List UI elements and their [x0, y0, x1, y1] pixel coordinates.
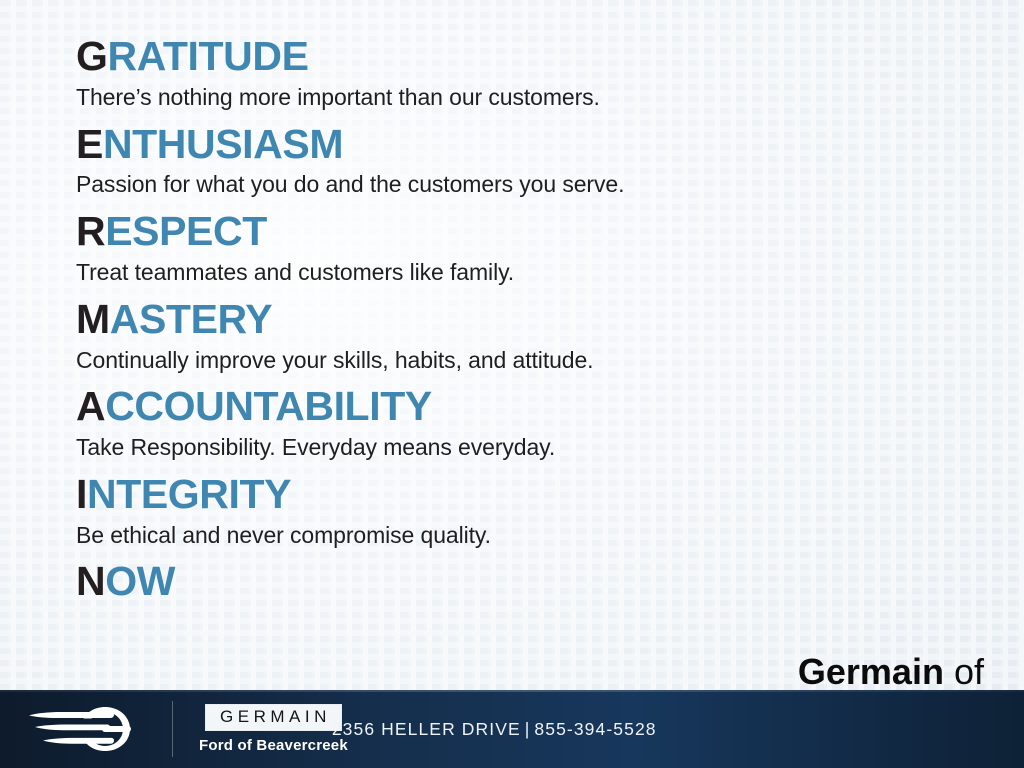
value-title-gratitude: GRATITUDE — [76, 36, 994, 78]
value-desc-enthusiasm: Passion for what you do and the customer… — [76, 170, 994, 199]
footer-brand-name: GERMAIN — [205, 704, 342, 731]
value-title-enthusiasm: ENTHUSIASM — [76, 124, 994, 166]
footer-brand-subtitle: Ford of Beavercreek — [199, 737, 348, 754]
value-lead-letter: I — [76, 471, 87, 517]
footer-contact-info: 2356 HELLER DRIVE|855-394-5528 — [332, 719, 657, 740]
value-rest-letters: RATITUDE — [108, 33, 309, 79]
value-lead-letter: E — [76, 121, 103, 167]
footer-logo — [0, 690, 172, 768]
value-desc-integrity: Be ethical and never compromise quality. — [76, 521, 994, 550]
value-desc-respect: Treat teammates and customers like famil… — [76, 258, 994, 287]
core-values-list: GRATITUDE There’s nothing more important… — [76, 36, 994, 615]
value-block-gratitude: GRATITUDE There’s nothing more important… — [76, 36, 994, 112]
value-rest-letters: ASTERY — [110, 296, 272, 342]
germain-winged-g-icon — [27, 703, 145, 755]
value-desc-mastery: Continually improve your skills, habits,… — [76, 346, 994, 375]
brand-lockup-bold: Germain — [798, 651, 944, 692]
value-lead-letter: R — [76, 208, 105, 254]
brand-lockup: Germain of — [798, 652, 984, 692]
value-block-respect: RESPECT Treat teammates and customers li… — [76, 211, 994, 287]
value-block-mastery: MASTERY Continually improve your skills,… — [76, 299, 994, 375]
value-rest-letters: ESPECT — [105, 208, 267, 254]
footer-bar: GERMAIN Ford of Beavercreek 2356 HELLER … — [0, 690, 1024, 768]
footer-address: 2356 HELLER DRIVE — [332, 719, 521, 739]
value-desc-accountability: Take Responsibility. Everyday means ever… — [76, 433, 994, 462]
value-desc-gratitude: There’s nothing more important than our … — [76, 83, 994, 112]
value-block-integrity: INTEGRITY Be ethical and never compromis… — [76, 474, 994, 550]
value-rest-letters: NTEGRITY — [87, 471, 291, 517]
value-title-mastery: MASTERY — [76, 299, 994, 341]
footer-separator: | — [521, 719, 535, 739]
value-title-accountability: ACCOUNTABILITY — [76, 386, 994, 428]
value-rest-letters: OW — [105, 558, 175, 604]
footer-phone[interactable]: 855-394-5528 — [534, 719, 656, 739]
value-lead-letter: M — [76, 296, 110, 342]
value-block-accountability: ACCOUNTABILITY Take Responsibility. Ever… — [76, 386, 994, 462]
value-title-integrity: INTEGRITY — [76, 474, 994, 516]
slide-canvas: GRATITUDE There’s nothing more important… — [0, 0, 1024, 768]
value-block-now: NOW — [76, 561, 994, 603]
value-rest-letters: CCOUNTABILITY — [105, 383, 432, 429]
value-lead-letter: A — [76, 383, 105, 429]
value-block-enthusiasm: ENTHUSIASM Passion for what you do and t… — [76, 124, 994, 200]
brand-lockup-light: of — [954, 651, 984, 692]
value-title-now: NOW — [76, 561, 994, 603]
value-title-respect: RESPECT — [76, 211, 994, 253]
footer-brand: GERMAIN Ford of Beavercreek — [173, 704, 348, 754]
value-lead-letter: G — [76, 33, 108, 79]
value-lead-letter: N — [76, 558, 105, 604]
value-rest-letters: NTHUSIASM — [103, 121, 343, 167]
